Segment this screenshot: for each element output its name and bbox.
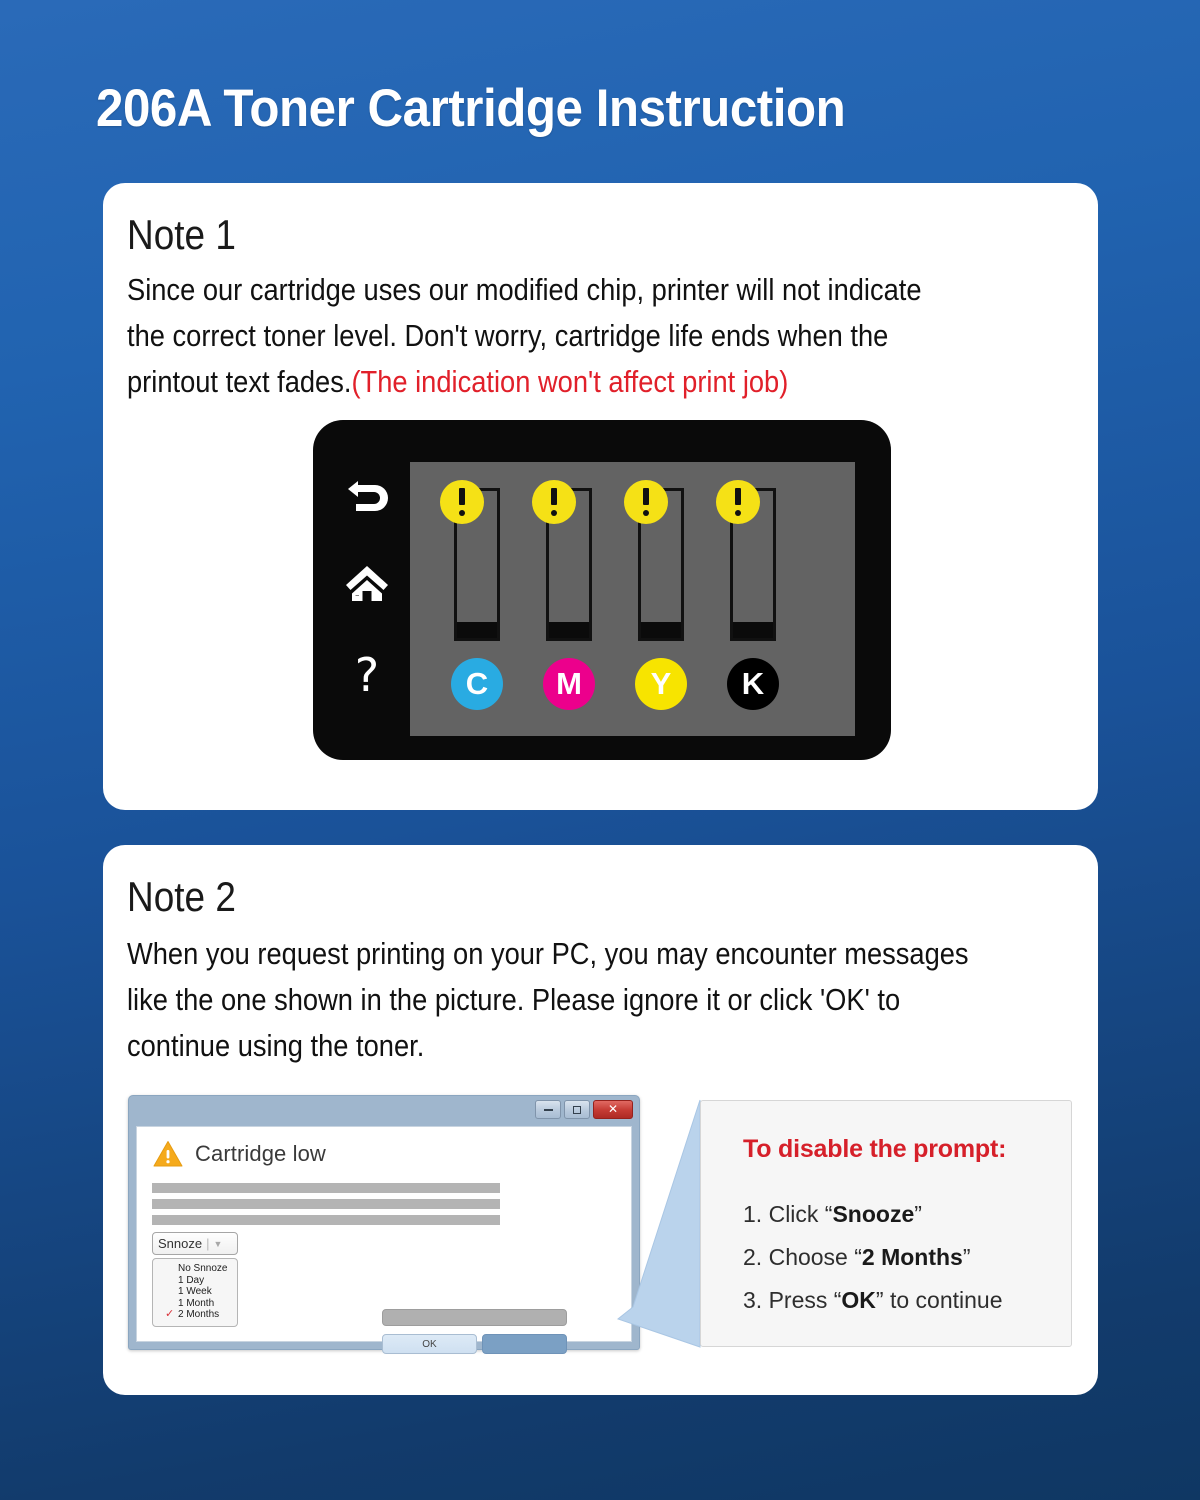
step-strong: Snooze xyxy=(832,1201,914,1227)
placeholder-bar xyxy=(152,1199,500,1209)
toner-column-cyan: C xyxy=(454,480,500,718)
step-strong: 2 Months xyxy=(862,1244,963,1270)
color-label-yellow: Y xyxy=(635,658,687,710)
snooze-option-1-day[interactable]: 1 Day xyxy=(153,1275,237,1287)
step-pre: Click “ xyxy=(762,1201,832,1227)
note-2-figure: ✕ Cartridge low xyxy=(128,1095,1078,1357)
step-number: 2. xyxy=(743,1244,762,1270)
note-1-heading: Note 1 xyxy=(127,211,236,259)
dialog-window-buttons: ✕ xyxy=(535,1100,633,1119)
toner-fill-yellow xyxy=(641,622,681,638)
note-2-body-line-2: like the one shown in the picture. Pleas… xyxy=(127,982,900,1017)
dialog-alert-title: Cartridge low xyxy=(195,1141,326,1167)
snooze-option-label: 1 Day xyxy=(178,1275,204,1286)
help-icon[interactable]: ? xyxy=(355,652,379,698)
snooze-dropdown-button[interactable]: Snnoze | ▼ xyxy=(152,1232,238,1255)
placeholder-bar xyxy=(152,1183,500,1193)
toner-fill-magenta xyxy=(549,622,589,638)
note-2-body-line-3: continue using the toner. xyxy=(127,1028,424,1063)
step-strong: OK xyxy=(841,1287,876,1313)
warning-icon-black xyxy=(716,480,760,524)
back-arrow-icon[interactable] xyxy=(344,468,390,514)
toner-column-black: K xyxy=(730,480,776,718)
minimize-button[interactable] xyxy=(535,1100,561,1119)
snooze-dropdown-divider: | xyxy=(206,1236,209,1251)
snooze-option-label: 2 Months xyxy=(178,1309,219,1320)
step-pre: Choose “ xyxy=(762,1244,862,1270)
toner-fill-black xyxy=(733,622,773,638)
snooze-option-label: 1 Week xyxy=(178,1286,212,1297)
note-1-card: Note 1 Since our cartridge uses our modi… xyxy=(103,183,1098,810)
step-number: 3. xyxy=(743,1287,762,1313)
snooze-dropdown-list[interactable]: No Snnoze 1 Day 1 Week 1 Month ✓ 2 Month… xyxy=(152,1258,238,1327)
toner-column-magenta: M xyxy=(546,480,592,718)
step-post: ” xyxy=(914,1201,922,1227)
warning-triangle-icon xyxy=(153,1140,183,1168)
placeholder-bar xyxy=(152,1215,500,1225)
disable-prompt-panel: To disable the prompt: 1. Click “Snooze”… xyxy=(700,1100,1072,1347)
ok-button[interactable]: OK xyxy=(382,1334,477,1354)
maximize-button[interactable] xyxy=(564,1100,590,1119)
home-icon[interactable] xyxy=(344,560,390,606)
warning-icon-magenta xyxy=(532,480,576,524)
snooze-dropdown-value: Snnoze xyxy=(158,1236,202,1251)
printer-control-panel: ? C M xyxy=(313,420,891,760)
printer-panel-keys: ? xyxy=(331,468,403,698)
instruction-step-1: 1. Click “Snooze” xyxy=(743,1193,1063,1236)
note-1-body-line-2: the correct toner level. Don't worry, ca… xyxy=(127,318,888,353)
snooze-option-no-snnoze[interactable]: No Snnoze xyxy=(153,1263,237,1275)
color-label-cyan: C xyxy=(451,658,503,710)
instruction-step-3: 3. Press “OK” to continue xyxy=(743,1279,1063,1322)
dialog-client-area: Cartridge low Snnoze | ▼ No Snnoze xyxy=(136,1126,632,1342)
note-2-body: When you request printing on your PC, yo… xyxy=(127,931,1086,1069)
step-post: ” xyxy=(963,1244,971,1270)
snooze-option-label: No Snnoze xyxy=(178,1263,227,1274)
note-1-body-line-1: Since our cartridge uses our modified ch… xyxy=(127,272,922,307)
snooze-option-label: 1 Month xyxy=(178,1298,214,1309)
toner-fill-cyan xyxy=(457,622,497,638)
minimize-icon xyxy=(544,1109,553,1111)
note-2-body-line-1: When you request printing on your PC, yo… xyxy=(127,936,969,971)
page-title: 206A Toner Cartridge Instruction xyxy=(96,78,845,139)
printer-screen: C M Y xyxy=(410,462,855,736)
warning-icon-yellow xyxy=(624,480,668,524)
cartridge-low-dialog: ✕ Cartridge low xyxy=(128,1095,640,1350)
color-label-magenta: M xyxy=(543,658,595,710)
snooze-option-1-week[interactable]: 1 Week xyxy=(153,1286,237,1298)
check-icon: ✓ xyxy=(165,1309,174,1321)
step-number: 1. xyxy=(743,1201,762,1227)
toner-level-group: C M Y xyxy=(450,480,818,718)
note-1-body: Since our cartridge uses our modified ch… xyxy=(127,267,1086,405)
dialog-header: Cartridge low xyxy=(153,1140,326,1168)
dialog-placeholder-bars xyxy=(152,1183,500,1231)
warning-icon-cyan xyxy=(440,480,484,524)
step-post: ” to continue xyxy=(876,1287,1003,1313)
maximize-icon xyxy=(573,1106,581,1114)
disable-prompt-steps: 1. Click “Snooze” 2. Choose “2 Months” 3… xyxy=(743,1193,1063,1322)
instruction-step-2: 2. Choose “2 Months” xyxy=(743,1236,1063,1279)
note-2-heading: Note 2 xyxy=(127,873,236,921)
close-icon: ✕ xyxy=(608,1104,618,1115)
snooze-option-2-months[interactable]: ✓ 2 Months xyxy=(153,1309,237,1321)
color-label-black: K xyxy=(727,658,779,710)
disable-prompt-title: To disable the prompt: xyxy=(743,1135,1006,1164)
note-1-body-red-note: (The indication won't affect print job) xyxy=(351,364,788,399)
dialog-titlebar: ✕ xyxy=(129,1096,639,1126)
toner-column-yellow: Y xyxy=(638,480,684,718)
note-1-body-line-3: printout text fades. xyxy=(127,364,351,399)
step-pre: Press “ xyxy=(762,1287,841,1313)
close-button[interactable]: ✕ xyxy=(593,1100,633,1119)
secondary-button[interactable] xyxy=(482,1334,567,1354)
dialog-placeholder-wide-bar xyxy=(382,1309,567,1326)
note-2-card: Note 2 When you request printing on your… xyxy=(103,845,1098,1395)
chevron-down-icon: ▼ xyxy=(213,1239,222,1249)
